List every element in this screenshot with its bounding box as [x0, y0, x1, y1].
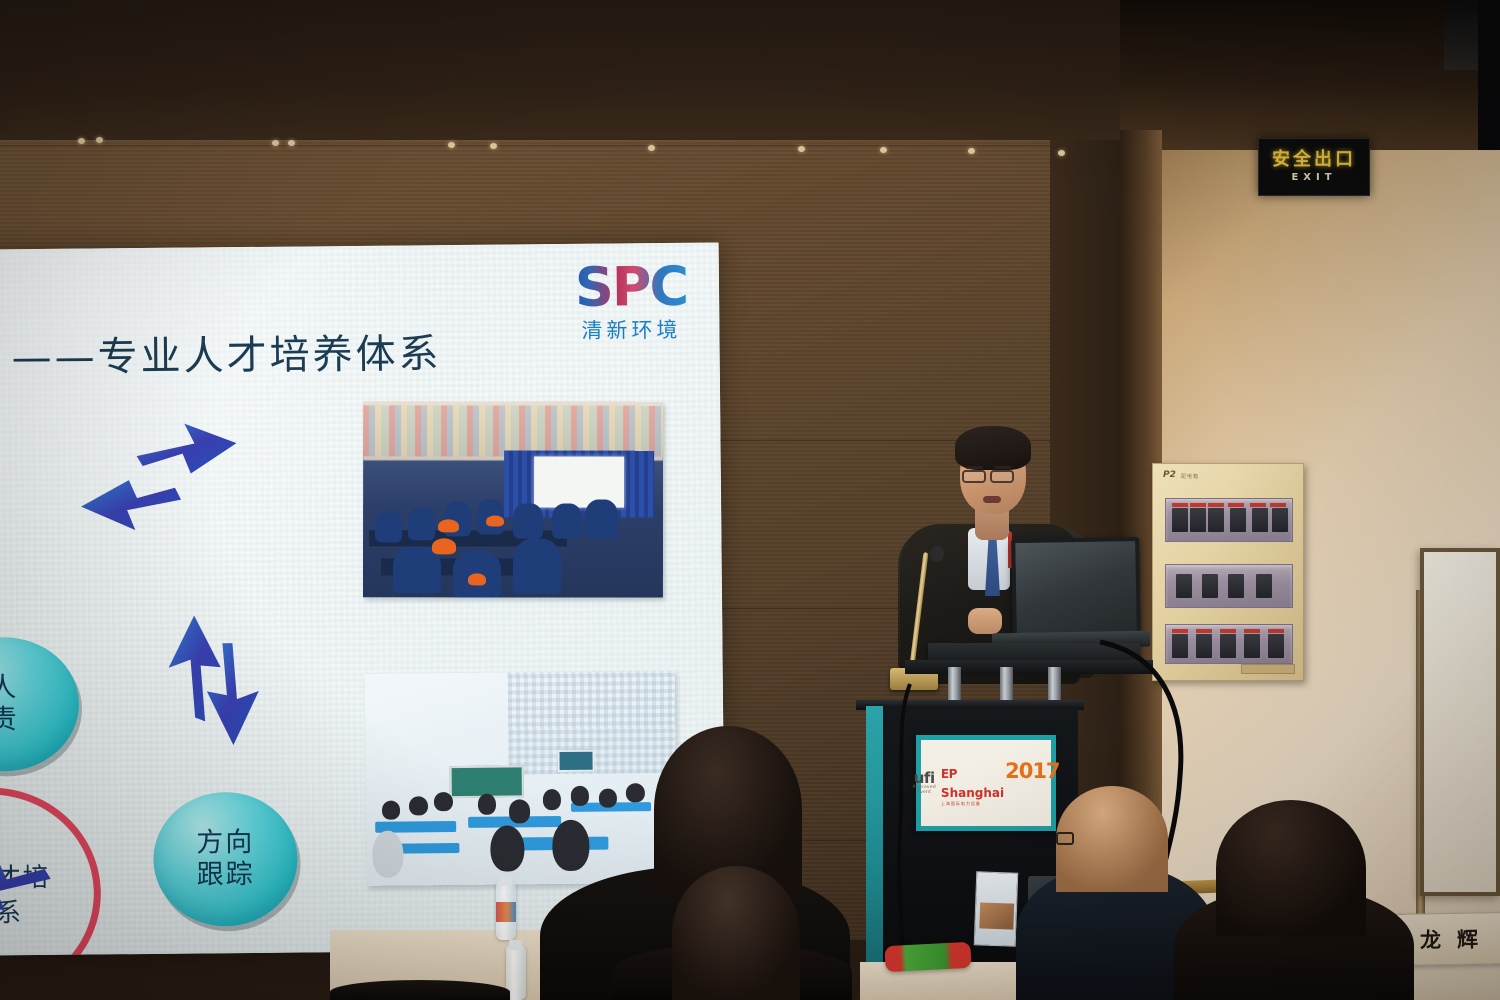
- diagram-center-label: 人才培体系: [0, 861, 95, 932]
- backdrop-stud: [648, 145, 655, 151]
- printed-pamphlet: [974, 871, 1019, 946]
- bottle-cap: [499, 876, 512, 886]
- slide-title: ——专业人才培养体系: [11, 321, 442, 383]
- diagram-bubble-direction: 方向跟踪: [153, 792, 298, 927]
- backdrop-upper-dark: [0, 0, 1130, 150]
- microphone-head-icon: [930, 546, 944, 562]
- right-wall-ceiling-shadow: [1120, 0, 1500, 150]
- event-year: 2017: [1005, 759, 1059, 783]
- nameplate-surname: 龙: [1420, 924, 1442, 954]
- panel-id-label: P2: [1163, 470, 1176, 480]
- audience-head: [672, 866, 800, 1000]
- spc-logo: SPC 清新环境: [563, 261, 700, 346]
- ep-chinese-subtitle: 上海国际电力设备: [941, 801, 1004, 807]
- bottle-cap: [509, 940, 522, 950]
- table-decoration-object: [884, 942, 971, 972]
- ep-shanghai-logo: EP Shanghai 上海国际电力设备 2017: [941, 759, 1060, 807]
- exit-sign-chinese-label: 安全出口: [1272, 151, 1356, 169]
- backdrop-stud: [968, 148, 975, 154]
- projection-screen: ——专业人才培养体系 SPC 清新环境 人才培体系: [0, 242, 725, 955]
- panel-footer-sticker: [1241, 664, 1295, 674]
- whiteboard: [1420, 548, 1500, 896]
- speaker-eyebrow: [966, 466, 983, 469]
- backdrop-stud: [272, 140, 279, 146]
- audience-eyeglasses-icon: [1056, 832, 1074, 845]
- spc-logo-mark: SPC: [563, 261, 699, 314]
- ep-shanghai-wordmark: Shanghai: [941, 786, 1004, 800]
- backdrop-stud: [288, 140, 295, 146]
- breaker-row: [1165, 564, 1293, 608]
- audience-head: [1216, 800, 1366, 936]
- panel-corner-tag: ·: [1296, 471, 1297, 476]
- speaker-eyebrow: [994, 466, 1011, 469]
- backdrop-stud: [798, 146, 805, 152]
- backdrop-stud: [96, 137, 103, 143]
- diagram-bubble-direction-label: 方向跟踪: [196, 827, 255, 891]
- diagram-bubble-top-label: 人责: [0, 672, 19, 736]
- eyeglasses-icon: [990, 470, 1014, 483]
- audience-body: [330, 980, 510, 1000]
- water-bottle: [496, 882, 516, 940]
- backdrop-stud: [1058, 150, 1065, 156]
- laptop-screen[interactable]: [1011, 537, 1141, 639]
- eyeglasses-icon: [962, 470, 986, 483]
- backdrop-stud: [880, 147, 887, 153]
- backdrop-stud: [490, 143, 497, 149]
- speaker-mouth: [983, 496, 1001, 503]
- speaker-hand-left: [968, 608, 1002, 634]
- nameplate-given-name: 辉: [1457, 923, 1479, 953]
- backdrop-stud: [448, 142, 455, 148]
- ceiling-edge-dark: [1478, 0, 1500, 150]
- spc-logo-chinese: 清新环境: [563, 314, 699, 345]
- speaker-hair: [955, 426, 1031, 470]
- backdrop-stud: [78, 138, 85, 144]
- exit-sign-english-label: EXIT: [1291, 172, 1336, 183]
- conference-room-scene: 安全出口 EXIT P2 配电箱 ·: [0, 0, 1500, 1000]
- mic-cable: [880, 680, 950, 980]
- breaker-row: [1165, 498, 1293, 542]
- slide-photo-training-classroom: [363, 401, 663, 597]
- panel-sublabel: 配电箱: [1181, 473, 1199, 480]
- slide-photo-lecture-hall: [365, 671, 677, 886]
- exit-sign: 安全出口 EXIT: [1258, 138, 1370, 196]
